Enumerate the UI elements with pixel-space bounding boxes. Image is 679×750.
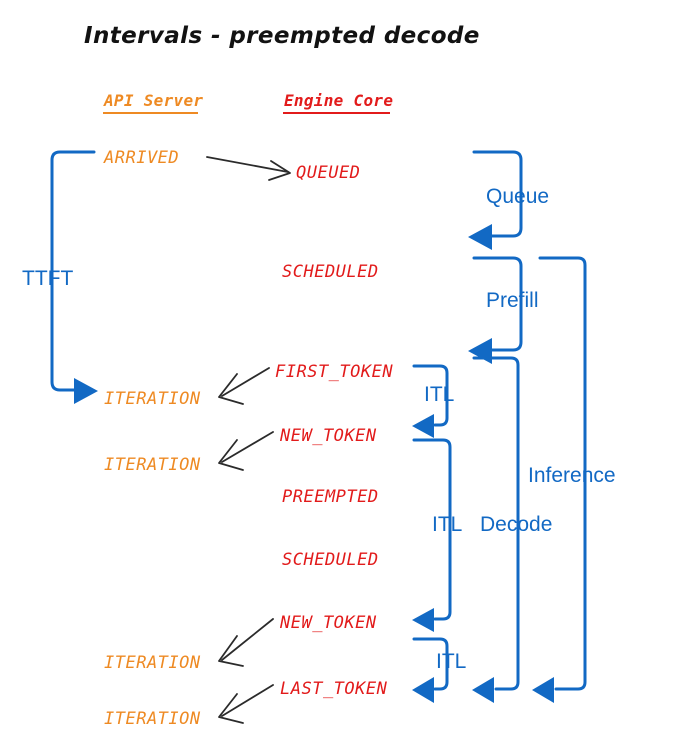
itl-3-arrowhead (412, 677, 434, 703)
interval-label-ttft: TTFT (22, 267, 73, 290)
transition-first-token-to-iteration (219, 368, 269, 404)
interval-label-itl-1: ITL (424, 383, 454, 406)
interval-label-inference: Inference (528, 464, 616, 487)
event-scheduled-1: SCHEDULED (282, 262, 379, 282)
event-iteration-3: ITERATION (104, 653, 201, 673)
queue-arrowhead (468, 224, 492, 250)
event-first-token: FIRST_TOKEN (275, 362, 393, 382)
diagram-svg: Intervals - preempted decode API Server … (0, 0, 679, 750)
decode-arrowhead (472, 677, 494, 703)
interval-bracket-itl-2 (412, 440, 450, 632)
itl-1-arrowhead (412, 414, 434, 438)
column-header-api-server: API Server (103, 91, 203, 110)
transition-last-token-to-iteration (219, 685, 273, 723)
event-new-token-2: NEW_TOKEN (279, 613, 377, 633)
interval-label-itl-2: ITL (432, 513, 462, 536)
itl-2-arrowhead (412, 608, 434, 632)
event-iteration-1: ITERATION (104, 389, 201, 409)
transition-new-token-to-iteration-1 (219, 432, 273, 470)
interval-label-itl-3: ITL (436, 650, 466, 673)
interval-label-queue: Queue (486, 185, 549, 208)
transition-arrived-to-queued (207, 157, 290, 180)
event-queued: QUEUED (296, 163, 360, 183)
event-scheduled-2: SCHEDULED (282, 550, 379, 570)
event-last-token: LAST_TOKEN (280, 679, 388, 699)
diagram-canvas: Intervals - preempted decode API Server … (0, 0, 679, 750)
event-iteration-2: ITERATION (104, 455, 201, 475)
page-title: Intervals - preempted decode (84, 23, 480, 49)
prefill-arrowhead (468, 338, 492, 364)
column-header-engine-core: Engine Core (284, 91, 393, 110)
transition-new-token-to-iteration-2 (219, 619, 273, 666)
event-preempted: PREEMPTED (282, 487, 379, 507)
interval-label-prefill: Prefill (486, 289, 539, 312)
inference-arrowhead (532, 677, 554, 703)
interval-label-decode: Decode (480, 513, 552, 536)
event-new-token-1: NEW_TOKEN (279, 426, 377, 446)
ttft-arrowhead (74, 378, 98, 404)
event-arrived: ARRIVED (103, 148, 179, 168)
event-iteration-4: ITERATION (104, 709, 201, 729)
